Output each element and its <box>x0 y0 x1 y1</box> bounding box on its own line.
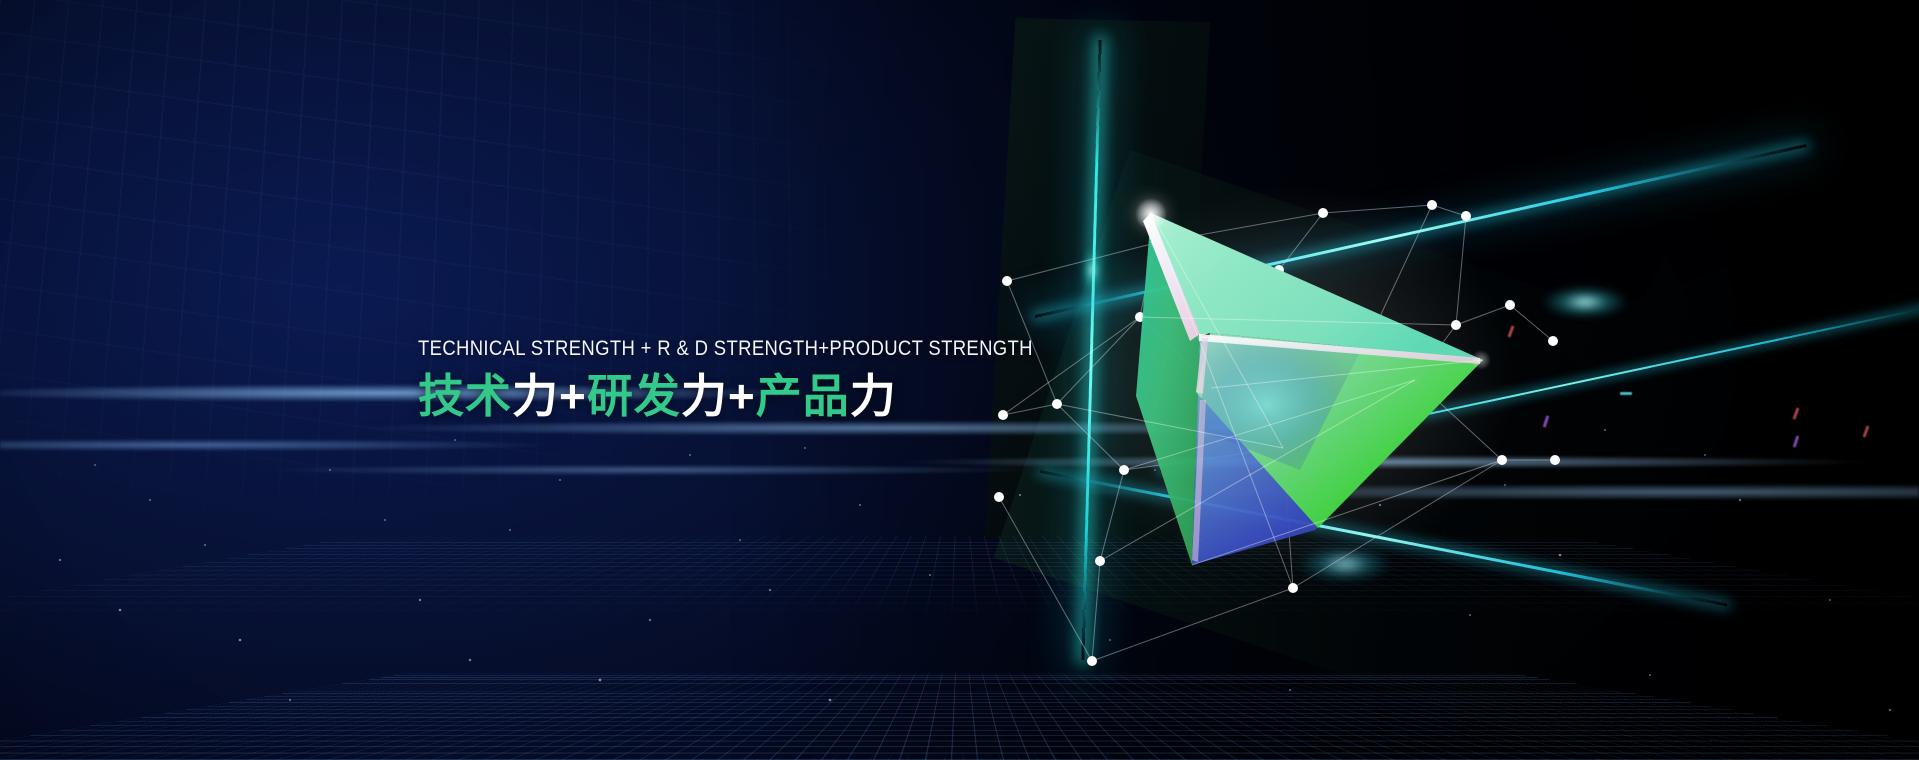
headline-title-segment-5: + <box>728 370 756 422</box>
headline-title-segment-3: 研发 <box>587 370 681 422</box>
headline-title: 技术力+研发力+产品力 <box>418 372 1117 422</box>
headline-title-segment-4: 力 <box>681 370 728 422</box>
headline-title-segment-7: 力 <box>850 370 897 422</box>
headline-block: TECHNICAL STRENGTH + R & D STRENGTH+PROD… <box>418 338 1117 422</box>
headline-eyebrow: TECHNICAL STRENGTH + R & D STRENGTH+PROD… <box>418 338 1033 359</box>
headline-title-segment-0: 技术 <box>418 370 512 422</box>
headline-title-segment-2: + <box>559 370 587 422</box>
headline-title-segment-1: 力 <box>512 370 559 422</box>
hero-banner: TECHNICAL STRENGTH + R & D STRENGTH+PROD… <box>0 0 1919 760</box>
headline-title-segment-6: 产品 <box>756 370 850 422</box>
